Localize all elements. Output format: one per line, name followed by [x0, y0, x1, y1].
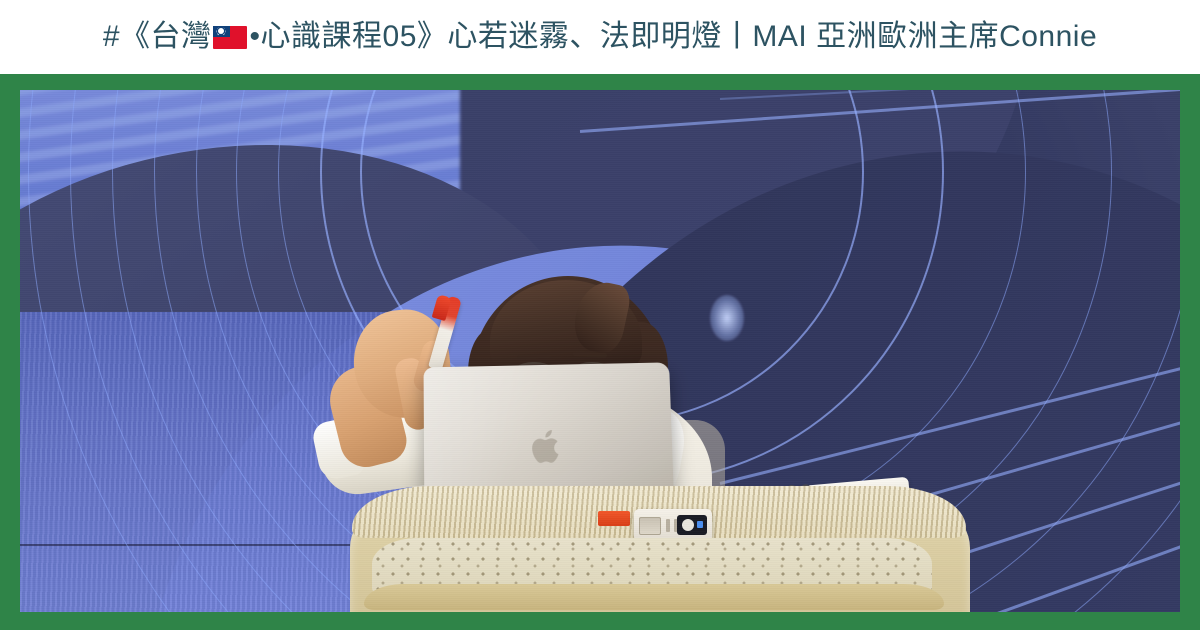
- title-bar: #《台灣 •心識課程05》心若迷霧、法即明燈丨MAI 亞洲歐洲主席Connie: [0, 0, 1200, 74]
- page-title: #《台灣 •心識課程05》心若迷霧、法即明燈丨MAI 亞洲歐洲主席Connie: [103, 19, 1097, 55]
- apple-logo-icon: [531, 427, 566, 468]
- device-button[interactable]: [666, 519, 670, 532]
- device-display: [677, 515, 707, 535]
- title-remainder: •心識課程05》心若迷霧、法即明燈丨MAI 亞洲歐洲主席Connie: [250, 19, 1098, 55]
- presenter-photo: [20, 90, 1180, 612]
- device-led-indicator: [697, 521, 703, 528]
- thumbnail-card: #《台灣 •心識課程05》心若迷霧、法即明燈丨MAI 亞洲歐洲主席Connie: [0, 0, 1200, 630]
- title-prefix: #《台灣: [103, 19, 212, 55]
- desk-lower-lip: [364, 584, 944, 610]
- orange-object: [598, 511, 630, 526]
- device-dial[interactable]: [682, 519, 694, 531]
- device-slot: [639, 517, 661, 535]
- taiwan-flag-icon: [213, 26, 247, 49]
